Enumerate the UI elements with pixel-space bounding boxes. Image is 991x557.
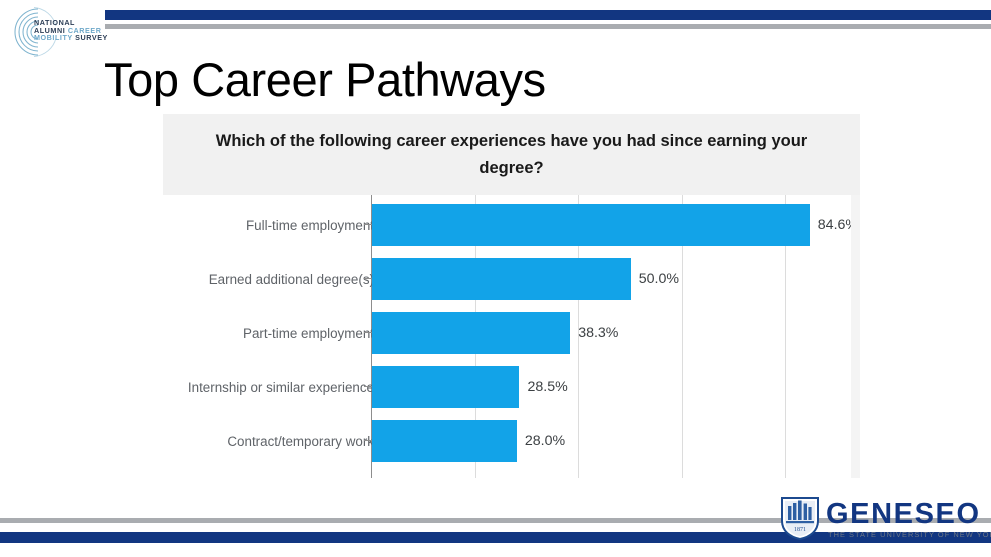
axis-tick [364, 440, 372, 441]
chart-header: Which of the following career experience… [163, 114, 860, 195]
chart-bar[interactable] [372, 312, 570, 354]
geneseo-shield-icon: 1871 [780, 495, 820, 540]
survey-logo: NATIONAL ALUMNI CAREER MOBILITY SURVEY [8, 6, 112, 58]
axis-tick [364, 224, 372, 225]
chart-scrollbar[interactable] [851, 195, 860, 478]
bar-value-label: 28.0% [525, 414, 565, 468]
bar-value-label: 28.5% [527, 360, 567, 414]
survey-logo-line-3: MOBILITY SURVEY [34, 34, 114, 42]
institution-tagline: THE STATE UNIVERSITY OF NEW YORK [828, 530, 991, 539]
survey-logo-text: NATIONAL ALUMNI CAREER MOBILITY SURVEY [34, 19, 114, 42]
bar-value-label: 38.3% [578, 306, 618, 360]
chart-row: Part-time employment38.3% [163, 306, 860, 360]
axis-tick [364, 278, 372, 279]
bar-value-label: 50.0% [639, 252, 679, 306]
chart-title: Which of the following career experience… [192, 128, 832, 182]
chart-row: Earned additional degree(s)50.0% [163, 252, 860, 306]
institution-logo: 1871 GENESEO THE STATE UNIVERSITY OF NEW… [780, 494, 985, 542]
chart-panel: Which of the following career experience… [163, 114, 860, 478]
category-label: Full-time employment [174, 198, 374, 252]
chart-row: Internship or similar experience28.5% [163, 360, 860, 414]
category-label: Part-time employment [174, 306, 374, 360]
chart-bar[interactable] [372, 420, 517, 462]
category-label: Contract/temporary work [174, 414, 374, 468]
axis-tick [364, 332, 372, 333]
chart-row: Contract/temporary work28.0% [163, 414, 860, 468]
chart-bar[interactable] [372, 258, 631, 300]
axis-tick [364, 386, 372, 387]
page-title: Top Career Pathways [104, 52, 546, 107]
survey-logo-mobility: MOBILITY [34, 33, 73, 42]
slide-canvas: NATIONAL ALUMNI CAREER MOBILITY SURVEY T… [0, 0, 991, 557]
category-label: Earned additional degree(s) [174, 252, 374, 306]
chart-row: Full-time employment84.6% [163, 198, 860, 252]
top-gray-rule [105, 24, 991, 29]
category-label: Internship or similar experience [174, 360, 374, 414]
chart-bar[interactable] [372, 204, 810, 246]
svg-text:1871: 1871 [794, 527, 806, 533]
institution-wordmark: GENESEO [826, 498, 981, 531]
survey-logo-survey: SURVEY [75, 33, 108, 42]
chart-bar[interactable] [372, 366, 519, 408]
plot-area: Full-time employment84.6%Earned addition… [163, 195, 860, 478]
top-navy-rule [105, 10, 991, 20]
